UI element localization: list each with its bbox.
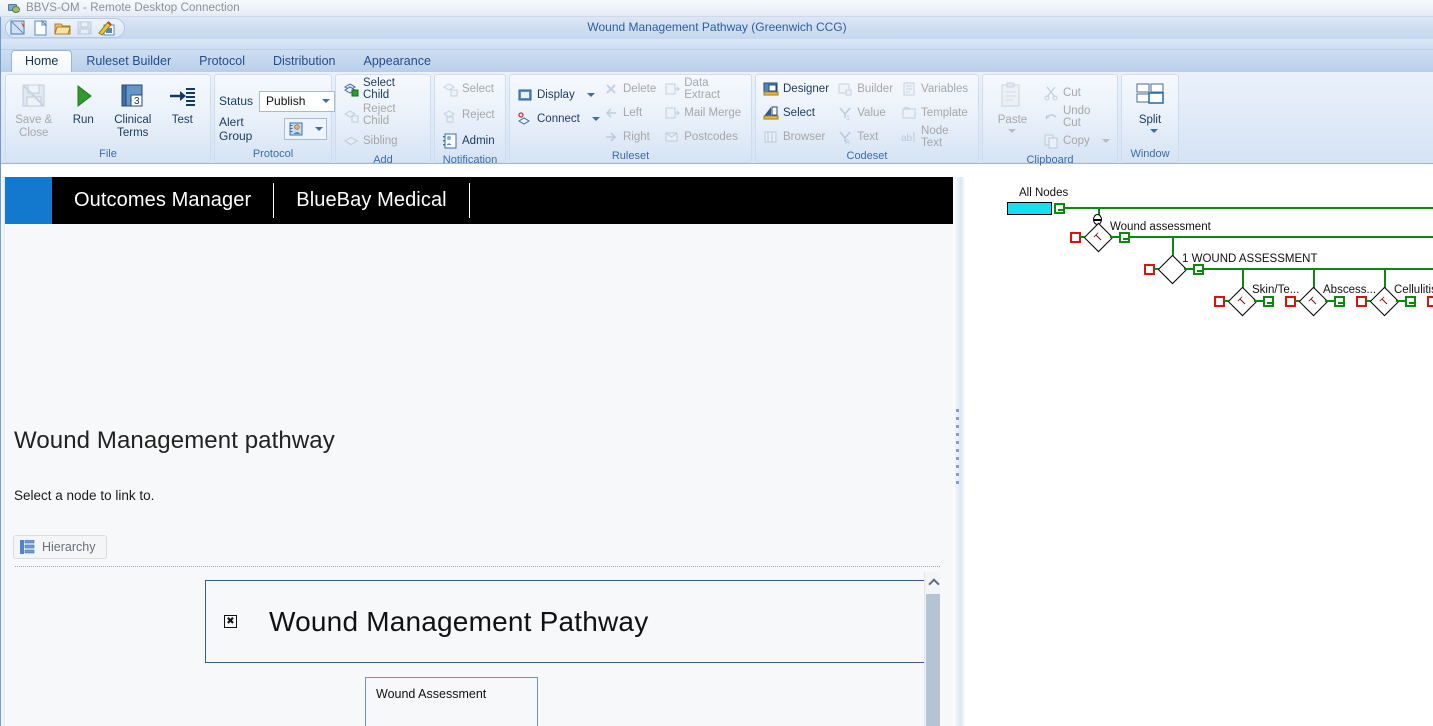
cut-label: Cut (1063, 87, 1081, 99)
minimap-node-0-line (1130, 236, 1433, 238)
right-pane-minimap[interactable]: All Nodes Wound assessment T (965, 177, 1433, 726)
test-button[interactable]: Test (159, 77, 207, 127)
display-button[interactable]: Display (514, 83, 598, 107)
minimap-root-label: All Nodes (1019, 187, 1068, 199)
ribbon-group-window: Split Window (1121, 74, 1179, 163)
variables-button: Variables (898, 77, 974, 101)
tab-appearance[interactable]: Appearance (350, 50, 445, 72)
split-label: Split (1139, 114, 1161, 127)
minimap-node-1-line (1204, 268, 1433, 270)
notification-select-button: Select (439, 77, 497, 101)
save-and-close-label-line2: Close (19, 127, 48, 140)
ribbon-group-window-label: Window (1126, 147, 1174, 162)
sibling-button: Sibling (340, 129, 401, 153)
value-icon: 1 (837, 105, 853, 121)
ribbon-group-clipboard: Paste Cut (982, 74, 1118, 163)
undo-cut-button: Undo Cut (1040, 105, 1113, 129)
node-text-label: Node Text (921, 125, 971, 149)
designer-icon (763, 81, 779, 97)
minimap-root-expander[interactable] (1054, 203, 1065, 214)
move-right-button: Right (600, 125, 659, 149)
screen: BBVS-OM - Remote Desktop Connection (0, 0, 1433, 726)
ribbon-group-file: Save & Close Run (5, 74, 211, 163)
mail-merge-button: Mail Merge (661, 101, 747, 125)
notification-reject-label: Reject (462, 109, 495, 121)
contact-card-icon (288, 121, 304, 137)
ribbon-group-codeset: Designer Select (755, 74, 979, 163)
node-wound-assessment[interactable]: Wound Assessment (365, 677, 538, 726)
ribbon-group-add: Select Child Reject Child (335, 74, 431, 163)
paste-button: Paste (987, 77, 1038, 133)
run-play-icon (67, 80, 99, 112)
save-and-close-label-line1: Save & (15, 114, 52, 127)
diagram-title-box[interactable]: ✖ Wound Management Pathway (205, 580, 940, 663)
connect-icon (517, 111, 533, 127)
minimap-node-5-reject[interactable] (1427, 296, 1433, 307)
section-divider (15, 566, 940, 567)
window-title: Wound Management Pathway (Greenwich CCG) (1, 20, 1433, 34)
postcodes-button: Postcodes (661, 125, 747, 149)
browser-icon (763, 129, 779, 145)
connect-chevron-down-icon[interactable] (592, 117, 600, 121)
display-chevron-down-icon[interactable] (587, 93, 595, 97)
svg-text:ab: ab (901, 133, 913, 144)
node-wound-assessment-label: Wound Assessment (376, 686, 527, 702)
paste-icon (996, 80, 1028, 112)
connect-label: Connect (537, 113, 580, 125)
split-chevron-down-icon[interactable] (1150, 129, 1158, 133)
postcodes-label: Postcodes (684, 131, 738, 143)
move-left-label: Left (623, 107, 642, 119)
ribbon-group-file-label: File (10, 147, 206, 162)
select-icon (442, 81, 458, 97)
minimap-node-0-expander[interactable] (1119, 232, 1130, 243)
arrow-right-icon (603, 129, 619, 145)
ribbon: Save & Close Run (1, 72, 1433, 164)
value-button: 1 Value (834, 101, 896, 125)
alert-group-chevron-down-icon (315, 127, 323, 131)
minimap-node-3-expander[interactable] (1334, 296, 1345, 307)
status-label: Status (219, 94, 253, 108)
paste-chevron-down-icon (1008, 129, 1016, 133)
template-icon (901, 105, 917, 121)
test-label: Test (172, 114, 193, 127)
builder-icon (837, 81, 853, 97)
alert-group-label: Alert Group (219, 115, 278, 143)
ribbon-group-notification-label: Notification (439, 153, 501, 168)
scrollbar-thumb[interactable] (926, 594, 940, 726)
clinical-terms-label-line1: Clinical (114, 114, 151, 127)
postcodes-icon (664, 129, 680, 145)
admin-icon (442, 133, 458, 149)
hierarchy-button-label: Hierarchy (42, 540, 96, 554)
svg-text:1: 1 (846, 115, 850, 121)
run-label: Run (73, 114, 94, 127)
move-left-button: Left (600, 101, 659, 125)
sibling-label: Sibling (363, 135, 398, 147)
chevron-down-icon (322, 99, 330, 103)
tab-ruleset-builder[interactable]: Ruleset Builder (72, 50, 185, 72)
diagram-title: Wound Management Pathway (269, 606, 648, 638)
left-pane: Outcomes Manager BlueBay Medical Wound M… (1, 177, 953, 726)
minimap-node-1-expander[interactable] (1193, 264, 1204, 275)
move-right-label: Right (623, 131, 650, 143)
select-child-button[interactable]: Select Child (340, 77, 426, 101)
template-label: Template (921, 107, 968, 119)
node-text-button: ab Node Text (898, 125, 974, 149)
title-strip (1, 39, 1433, 50)
minimap-node-2-expander[interactable] (1263, 296, 1274, 307)
splitter-grip[interactable] (956, 409, 960, 494)
tab-distribution[interactable]: Distribution (259, 50, 350, 72)
ribbon-group-ruleset: Display Connect (509, 74, 752, 163)
canvas-vertical-scrollbar[interactable] (924, 572, 940, 726)
value-label: Value (857, 107, 886, 119)
ribbon-group-protocol: Status Publish Alert Group (214, 74, 332, 163)
data-extract-icon (664, 81, 680, 97)
ribbon-group-clipboard-label: Clipboard (987, 153, 1113, 168)
delete-button: Delete (600, 77, 659, 101)
display-icon (517, 87, 533, 103)
notification-admin-button[interactable]: Admin (439, 129, 498, 153)
x-checkbox-icon[interactable]: ✖ (224, 615, 237, 628)
notification-reject-button: Reject (439, 103, 498, 127)
codeset-select-label: Select (783, 107, 815, 119)
data-extract-label: Data Extract (684, 77, 744, 101)
minimap-node-label-3: Abscess... (1323, 284, 1376, 296)
left-pane-edge (1, 177, 5, 726)
arrow-left-icon (603, 105, 619, 121)
codeset-select-button[interactable]: Select (760, 101, 832, 125)
node-tree[interactable]: All Nodes Wound assessment T (965, 177, 1433, 726)
notification-admin-label: Admin (462, 135, 495, 147)
copy-chevron-down-icon (1102, 139, 1110, 143)
ribbon-group-codeset-label: Codeset (760, 149, 974, 164)
ribbon-tabs: Home Ruleset Builder Protocol Distributi… (1, 50, 1433, 72)
nav-bluebay-medical[interactable]: BlueBay Medical (274, 177, 468, 224)
builder-label: Builder (857, 83, 893, 95)
mail-merge-label: Mail Merge (684, 107, 741, 119)
pathway-canvas[interactable]: ✖ Wound Management Pathway (15, 572, 940, 726)
copy-icon (1043, 133, 1059, 149)
text-button: A Text (834, 125, 896, 149)
minimap-root-line (1065, 207, 1433, 209)
sibling-icon (343, 133, 359, 149)
ribbon-group-add-label: Add (340, 153, 426, 168)
ribbon-group-notification: Select Reject (434, 74, 506, 163)
remote-desktop-titlebar: BBVS-OM - Remote Desktop Connection (0, 0, 1433, 17)
minimap-node-label-2: Skin/Te... (1252, 284, 1299, 296)
undo-cut-label: Undo Cut (1063, 105, 1110, 129)
builder-button: Builder (834, 77, 896, 101)
connect-button[interactable]: Connect (514, 107, 598, 131)
display-label: Display (537, 89, 575, 101)
variables-icon (901, 81, 917, 97)
paste-label: Paste (998, 114, 1027, 127)
svg-text:A: A (845, 139, 850, 145)
node-text-icon: ab (901, 129, 917, 145)
select-child-icon (343, 81, 359, 97)
reject-icon (442, 107, 458, 123)
chevron-up-icon (928, 578, 939, 589)
reject-child-icon (343, 107, 359, 123)
undo-cut-icon (1043, 109, 1059, 125)
tab-home[interactable]: Home (11, 50, 72, 72)
select-child-label: Select Child (363, 77, 423, 101)
text-icon: A (837, 129, 853, 145)
template-button: Template (898, 101, 974, 125)
minimap-node-0-marker: T (1084, 223, 1114, 253)
split-window-icon (1134, 80, 1166, 112)
clinical-terms-book-icon: 3 (117, 80, 149, 112)
split-button[interactable]: Split (1126, 77, 1174, 133)
app-branding-header: Outcomes Manager BlueBay Medical (5, 177, 953, 224)
save-close-icon (18, 80, 50, 112)
nav-outcomes-manager[interactable]: Outcomes Manager (52, 177, 273, 224)
scroll-up-button[interactable] (927, 576, 940, 589)
test-arrow-icon (166, 80, 198, 112)
status-select[interactable]: Publish (259, 91, 335, 112)
delete-x-icon (603, 81, 619, 97)
save-and-close-button: Save & Close (10, 77, 58, 140)
minimap-node-4-expander[interactable] (1405, 296, 1416, 307)
browser-button: Browser (760, 125, 832, 149)
minimap-root-selection-bar[interactable] (1007, 202, 1052, 215)
ribbon-group-ruleset-label: Ruleset (514, 149, 747, 164)
mail-merge-icon (664, 105, 680, 121)
remote-desktop-icon (8, 2, 21, 14)
application-window: Wound Management Pathway (Greenwich CCG)… (0, 17, 1433, 726)
delete-label: Delete (623, 83, 656, 95)
remote-desktop-title: BBVS-OM - Remote Desktop Connection (26, 2, 240, 14)
hierarchy-icon (20, 540, 35, 554)
tab-protocol[interactable]: Protocol (185, 50, 259, 72)
hierarchy-button[interactable]: Hierarchy (13, 535, 107, 559)
reject-child-label: Reject Child (363, 103, 423, 127)
cut-scissors-icon (1043, 85, 1059, 101)
main-area: Outcomes Manager BlueBay Medical Wound M… (1, 177, 1433, 726)
pane-splitter[interactable] (953, 177, 965, 726)
alert-group-picker[interactable] (284, 118, 327, 140)
clinical-terms-label-line2: Terms (117, 127, 148, 140)
codeset-select-icon (763, 105, 779, 121)
copy-button: Copy (1040, 129, 1113, 153)
ribbon-group-protocol-label: Protocol (219, 147, 327, 162)
quick-access-toolbar: Wound Management Pathway (Greenwich CCG) (1, 17, 1433, 39)
designer-label: Designer (783, 83, 829, 95)
designer-button[interactable]: Designer (760, 77, 832, 101)
reject-child-button: Reject Child (340, 103, 426, 127)
browser-label: Browser (783, 131, 825, 143)
header-divider-2 (469, 183, 470, 218)
alert-group-field: Alert Group (219, 116, 327, 142)
copy-label: Copy (1063, 135, 1090, 147)
instruction-text: Select a node to link to. (14, 488, 154, 503)
status-value: Publish (266, 94, 305, 108)
text-label: Text (857, 131, 878, 143)
minimap-node-label-4: Cellulitis ... (1394, 284, 1433, 296)
run-button[interactable]: Run (60, 77, 108, 127)
clinical-terms-button[interactable]: 3 Clinical Terms (109, 77, 157, 140)
brand-color-block (5, 177, 52, 224)
variables-label: Variables (921, 83, 968, 95)
cut-button: Cut (1040, 81, 1113, 105)
data-extract-button: Data Extract (661, 77, 747, 101)
page-title: Wound Management pathway (14, 427, 335, 455)
svg-text:3: 3 (134, 96, 140, 107)
status-field: Status Publish (219, 88, 335, 114)
notification-select-label: Select (462, 83, 494, 95)
